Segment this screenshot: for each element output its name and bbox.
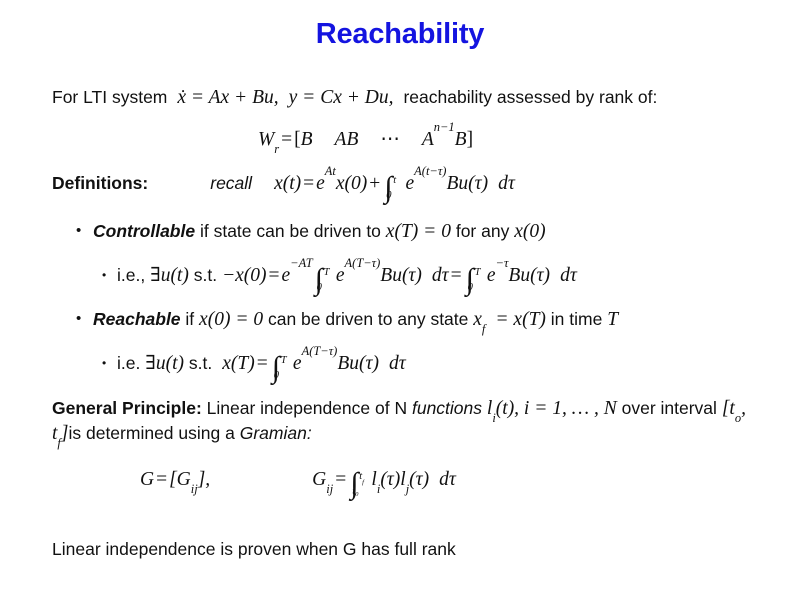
def-exp-base: e <box>316 173 325 194</box>
b2a-int-upper: T <box>281 356 287 367</box>
gramian-dtau: dτ <box>439 469 456 490</box>
definitions-equation: x(t)=eAtx(0)+∫t0eA(t−τ)Bu(τ)dτ <box>274 173 515 194</box>
bullet-controllable-keyword: Controllable <box>93 221 195 241</box>
gramian-open: [G <box>169 469 191 490</box>
gramian-rhs-equals: = <box>333 469 348 490</box>
bullet-reachable-math-b: xf= x(T) <box>473 309 546 330</box>
conclusion-line: Linear independence is proven when G has… <box>52 538 456 560</box>
wr-term-ab: AB <box>335 129 359 150</box>
def-bu: Bu(τ) <box>446 173 488 194</box>
gramian-li-arg: (τ) <box>380 469 400 490</box>
intro-output-equation: y = Cx + Du, <box>289 87 394 108</box>
bullet-reachable: •Reachable if x(0) = 0 can be driven to … <box>76 308 618 333</box>
bullet-reachable-keyword: Reachable <box>93 309 181 329</box>
gramian-equation: G=[Gij],Gij=∫tft₀li(τ)lj(τ)dτ <box>140 468 456 493</box>
wr-equals: = <box>279 129 294 150</box>
b2a-int-lower: 0 <box>274 371 279 382</box>
b2a-lead: i.e. <box>117 353 140 373</box>
b2a-equals: = <box>255 353 270 374</box>
b2a-st: s.t. <box>189 353 212 373</box>
bullet-reachable-math-c: T <box>607 309 618 330</box>
integral-sign-icon: ∫T0 <box>315 272 323 289</box>
wr-lhs-sub: r <box>274 142 279 156</box>
li-rest: (t), i = 1, … , N <box>496 398 617 419</box>
slide: Reachability For LTI systemẋ = Ax + Bu,… <box>0 0 800 600</box>
bullet-marker-icon: • <box>102 356 117 371</box>
bullet-reachable-text-a: if <box>185 309 194 329</box>
wr-ellipsis: ⋯ <box>380 129 400 150</box>
bullet-reachable-math-a: x(0) = 0 <box>199 309 263 330</box>
wr-close-bracket: ] <box>467 129 474 150</box>
def-exp2-exponent: A(t−τ) <box>414 164 446 178</box>
integral-sign-icon: ∫T0 <box>466 272 474 289</box>
bullet-reachable-text-b: can be driven to any state <box>268 309 468 329</box>
gramian-lj-arg: (τ) <box>409 469 429 490</box>
b1a-int1-lower: 0 <box>317 283 322 294</box>
b2a-u-of-t: u(t) <box>156 353 184 374</box>
gramian-rhs-sub: ij <box>326 482 333 496</box>
def-equals: = <box>301 173 316 194</box>
bullet-reachable-detail: •i.e. ∃u(t) s.t.x(T)=∫T0eA(T−τ)Bu(τ)dτ <box>102 352 406 377</box>
interval-open: [t <box>722 398 735 419</box>
def-exp2-base: e <box>406 173 415 194</box>
xf-rest: = x(T) <box>495 309 546 330</box>
b1a-e2-exponent: A(T−τ) <box>345 256 381 270</box>
bullet-marker-icon: • <box>76 309 93 328</box>
def-plus: + <box>367 173 382 194</box>
b1a-int1-upper: T <box>324 268 330 279</box>
integral-sign-icon: ∫T0 <box>272 360 280 377</box>
gramian-lhs: G <box>140 469 154 490</box>
general-principle-gramian-word: Gramian: <box>240 423 312 443</box>
definitions-recall: recall <box>210 173 252 193</box>
gramian-equals: = <box>154 469 169 490</box>
b1a-e3-exponent: −τ <box>496 256 509 270</box>
b1a-u-of-t: u(t) <box>161 265 189 286</box>
wr-term-anb-base: A <box>422 129 434 150</box>
interval-sub-f: f <box>57 436 60 450</box>
b1a-e-exponent: −AT <box>290 256 313 270</box>
b1a-lhs: −x(0) <box>222 265 267 286</box>
b1a-exists-symbol: ∃ <box>150 265 161 286</box>
b1a-e2-base: e <box>336 265 345 286</box>
gramian-sub-ij: ij <box>191 482 198 496</box>
intro-line: For LTI systemẋ = Ax + Bu,y = Cx + Du,r… <box>52 86 657 111</box>
reachability-matrix-equation: Wr=[BAB⋯An−1B] <box>258 128 473 153</box>
integral-sign-icon: ∫t0 <box>384 180 392 197</box>
gramian-int-upper-sub: f <box>362 479 364 486</box>
b1a-lead: i.e., <box>117 265 145 285</box>
b1a-e3-base: e <box>487 265 496 286</box>
b1a-e2-tail: Bu(τ) <box>380 265 422 286</box>
integral-sign-icon: ∫tft₀ <box>350 476 358 493</box>
def-exp-exponent: At <box>325 164 336 178</box>
b1a-int2-upper: T <box>475 268 481 279</box>
intro-suffix: reachability assessed by rank of: <box>403 87 657 107</box>
b2a-lhs: x(T) <box>222 353 255 374</box>
bullet-marker-icon: • <box>102 268 117 283</box>
gramian-int-lower: t₀ <box>352 487 359 498</box>
bullet-controllable-math-a: x(T) = 0 <box>386 221 451 242</box>
general-principle-text-c: is determined using a <box>68 423 234 443</box>
b2a-dtau: dτ <box>389 353 406 374</box>
page-title: Reachability <box>0 18 800 51</box>
b1a-dtau-2: dτ <box>560 265 577 286</box>
definitions-label: Definitions: <box>52 173 148 193</box>
general-principle-functions-word: functions <box>412 398 482 418</box>
b1a-equals-2: = <box>449 265 464 286</box>
wr-term-b: B <box>301 129 313 150</box>
wr-term-anb-tail: B <box>455 129 467 150</box>
def-int-upper: t <box>393 176 396 187</box>
gramian-close: ], <box>198 469 210 490</box>
general-principle-text-a: Linear independence of N <box>207 398 407 418</box>
b2a-e-base: e <box>293 353 302 374</box>
general-principle-math-a: li(t), i = 1, … , N <box>487 398 617 419</box>
bullet-reachable-text-c: in time <box>551 309 603 329</box>
intro-state-equation: ẋ = Ax + Bu, <box>177 87 278 108</box>
b2a-e-tail: Bu(τ) <box>337 353 379 374</box>
wr-term-anb-exponent: n−1 <box>434 120 455 134</box>
b1a-e-base: e <box>282 265 291 286</box>
def-x0: x(0) <box>336 173 367 194</box>
bullet-controllable-text-b: for any <box>456 221 510 241</box>
def-int-lower: 0 <box>386 191 391 202</box>
def-lhs: x(t) <box>274 173 301 194</box>
bullet-marker-icon: • <box>76 221 93 240</box>
gramian-int-upper: tf <box>359 472 364 483</box>
general-principle-paragraph: General Principle: Linear independence o… <box>52 396 758 447</box>
gramian-rhs-lhs: G <box>312 469 326 490</box>
bullet-controllable-text-a: if state can be driven to <box>200 221 381 241</box>
interval-sub-o: o <box>735 411 741 425</box>
li-sub: i <box>492 411 495 425</box>
b1a-st: s.t. <box>194 265 217 285</box>
b1a-equation: −x(0)=e−AT∫T0eA(T−τ)Bu(τ)dτ=∫T0e−τBu(τ)d… <box>222 265 577 286</box>
gramian-lj-sub: j <box>406 482 409 496</box>
xf-base: x <box>473 309 482 330</box>
b1a-e3-tail: Bu(τ) <box>508 265 550 286</box>
general-principle-text-b: over interval <box>622 398 717 418</box>
b1a-dtau-1: dτ <box>432 265 449 286</box>
wr-lhs: W <box>258 129 274 150</box>
bullet-controllable: •Controllable if state can be driven to … <box>76 220 546 245</box>
definitions-line: Definitions:recallx(t)=eAtx(0)+∫t0eA(t−τ… <box>52 172 515 197</box>
bullet-controllable-detail: •i.e., ∃u(t) s.t. −x(0)=e−AT∫T0eA(T−τ)Bu… <box>102 264 577 289</box>
bullet-controllable-math-b: x(0) <box>514 221 545 242</box>
b2a-e-exponent: A(T−τ) <box>302 344 338 358</box>
b1a-int2-lower: 0 <box>468 283 473 294</box>
intro-prefix: For LTI system <box>52 87 167 107</box>
gramian-li-sub: i <box>377 482 380 496</box>
b2a-equation: x(T)=∫T0eA(T−τ)Bu(τ)dτ <box>222 353 405 374</box>
general-principle-label: General Principle: <box>52 398 202 418</box>
def-dtau: dτ <box>498 173 515 194</box>
b2a-exists-symbol: ∃ <box>145 353 156 374</box>
b1a-equals-1: = <box>267 265 282 286</box>
gramian-lj-base: l <box>400 469 405 490</box>
xf-sub: f <box>482 322 485 336</box>
